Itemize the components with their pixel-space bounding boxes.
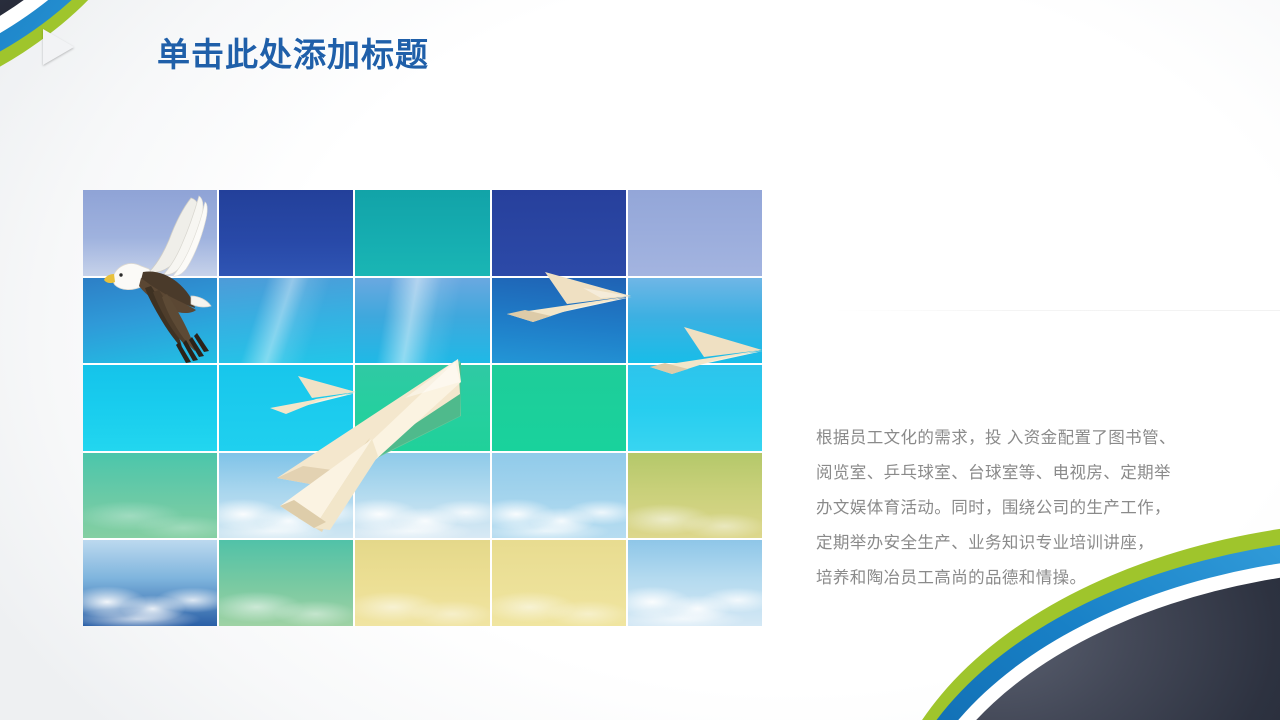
mosaic-tile [219,278,353,364]
mosaic-tile [628,365,762,451]
page-title: 单击此处添加标题 [157,28,429,76]
mosaic-tile [355,190,489,276]
mosaic-tile [83,278,217,364]
mosaic-tile [219,540,353,626]
mosaic-tile [83,453,217,539]
mosaic-tile [355,540,489,626]
mosaic-tile [355,278,489,364]
mosaic-tile [355,365,489,451]
mosaic-tile [492,453,626,539]
mosaic-tile [628,278,762,364]
mosaic-tile [628,453,762,539]
mosaic-tile [492,190,626,276]
play-triangle-icon[interactable] [43,29,74,65]
mosaic-tile [355,453,489,539]
mosaic-tile [219,190,353,276]
mosaic-tile [83,365,217,451]
top-left-blue-arc [0,0,174,115]
slide-canvas: 单击此处添加标题 [0,0,1280,720]
mosaic-tile [219,365,353,451]
mosaic-tile [83,190,217,276]
mosaic-tile [492,278,626,364]
mosaic-tile [628,540,762,626]
mosaic-tile [492,540,626,626]
bottom-right-decoration [780,460,1280,720]
mosaic-tile [628,190,762,276]
image-mosaic [83,190,762,626]
mosaic-tile [219,453,353,539]
mosaic-tile [492,365,626,451]
background-hairline [830,310,1280,311]
mosaic-tile [83,540,217,626]
